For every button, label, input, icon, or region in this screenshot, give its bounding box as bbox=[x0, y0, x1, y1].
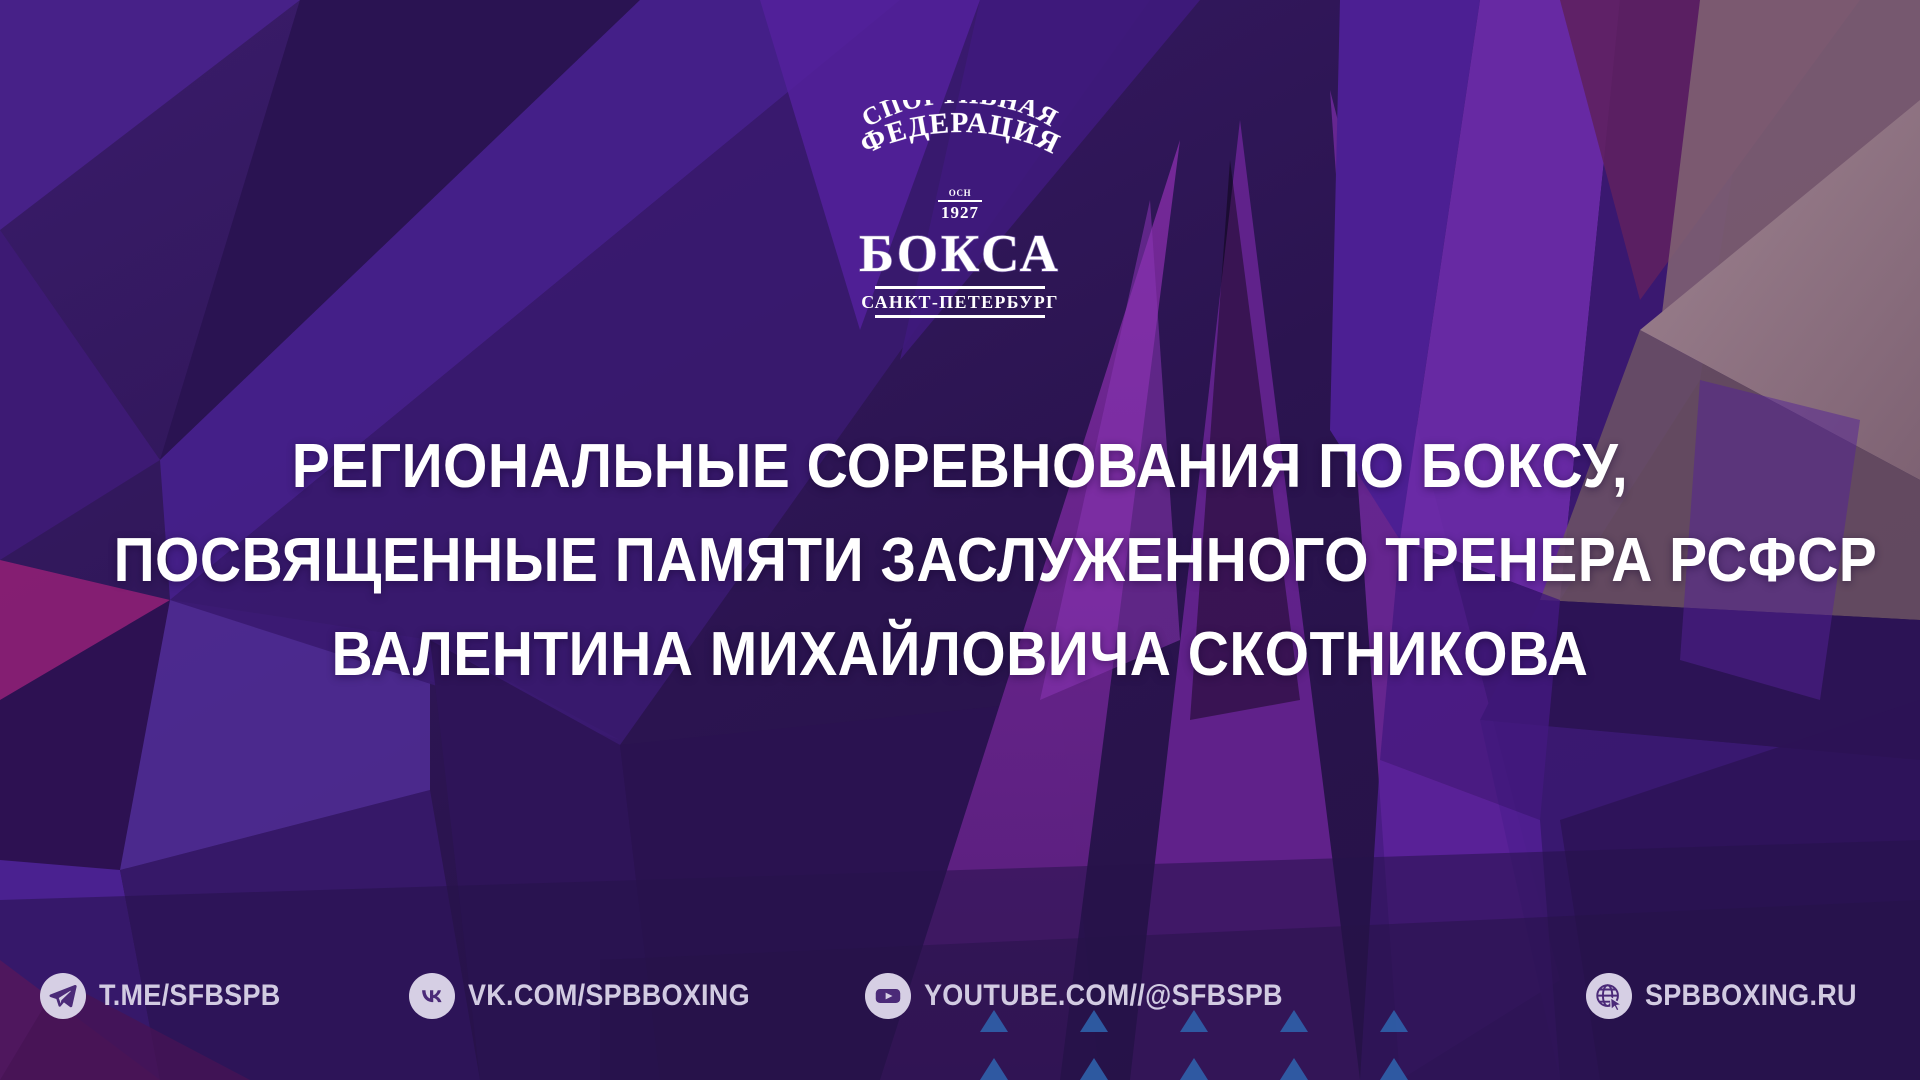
logo-established-year: 1927 bbox=[825, 204, 1095, 222]
social-links-bar: T.ME/SFBSPB VK.COM/SPBBOXING YOUTUBE.COM… bbox=[0, 970, 1920, 1022]
logo-city: САНКТ-ПЕТЕРБУРГ bbox=[825, 292, 1095, 312]
title-line-1: РЕГИОНАЛЬНЫЕ СОРЕВНОВАНИЯ ПО БОКСУ, bbox=[114, 420, 1807, 514]
title-line-3: ВАЛЕНТИНА МИХАЙЛОВИЧА СКОТНИКОВА bbox=[114, 608, 1807, 702]
vk-icon bbox=[409, 973, 455, 1019]
title-line-2: ПОСВЯЩЕННЫЕ ПАМЯТИ ЗАСЛУЖЕННОГО ТРЕНЕРА … bbox=[114, 514, 1807, 608]
youtube-icon bbox=[865, 973, 911, 1019]
event-title: РЕГИОНАЛЬНЫЕ СОРЕВНОВАНИЯ ПО БОКСУ, ПОСВ… bbox=[0, 420, 1920, 702]
social-link-vk[interactable]: VK.COM/SPBBOXING bbox=[409, 973, 781, 1019]
logo-arched-text: СПОРТИВНАЯ ФЕДЕРАЦИЯ bbox=[825, 100, 1095, 192]
social-link-telegram[interactable]: T.ME/SFBSPB bbox=[40, 973, 301, 1019]
social-label-website: SPBBOXING.RU bbox=[1645, 979, 1857, 1013]
logo-divider-bottom bbox=[875, 315, 1045, 318]
social-link-website[interactable]: SPBBOXING.RU bbox=[1586, 973, 1880, 1019]
logo-divider-mid bbox=[875, 286, 1045, 289]
poster-canvas: СПОРТИВНАЯ ФЕДЕРАЦИЯ ОСН 1927 БОКСА САНК… bbox=[0, 0, 1920, 1080]
social-link-youtube[interactable]: YOUTUBE.COM//@SFBSPB bbox=[865, 973, 1323, 1019]
social-label-vk: VK.COM/SPBBOXING bbox=[468, 979, 750, 1013]
telegram-icon bbox=[40, 973, 86, 1019]
globe-icon bbox=[1586, 973, 1632, 1019]
social-label-youtube: YOUTUBE.COM//@SFBSPB bbox=[924, 979, 1283, 1013]
social-label-telegram: T.ME/SFBSPB bbox=[99, 979, 280, 1013]
logo-divider-top bbox=[938, 200, 982, 202]
logo-main-word: БОКСА bbox=[825, 226, 1095, 282]
logo-established-label: ОСН bbox=[825, 188, 1095, 198]
federation-logo: СПОРТИВНАЯ ФЕДЕРАЦИЯ ОСН 1927 БОКСА САНК… bbox=[825, 100, 1095, 318]
